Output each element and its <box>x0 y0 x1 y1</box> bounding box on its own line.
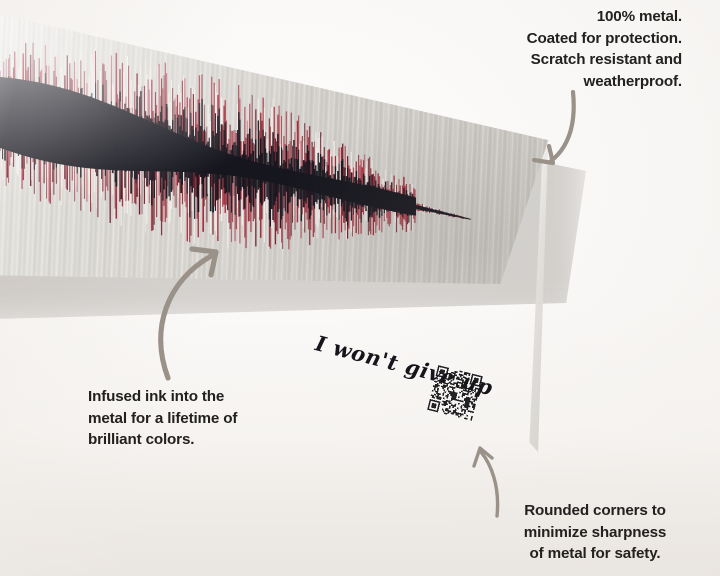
callout-text-metal: 100% metal. Coated for protection. Scrat… <box>352 6 682 92</box>
product-feature-image: I won't give up 100% metal. Coated for p… <box>0 0 720 576</box>
callout-text-corners: Rounded corners to minimize sharpness of… <box>480 500 710 565</box>
callout-text-ink: Infused ink into the metal for a lifetim… <box>88 386 338 451</box>
qr-code-icon[interactable] <box>427 365 483 421</box>
